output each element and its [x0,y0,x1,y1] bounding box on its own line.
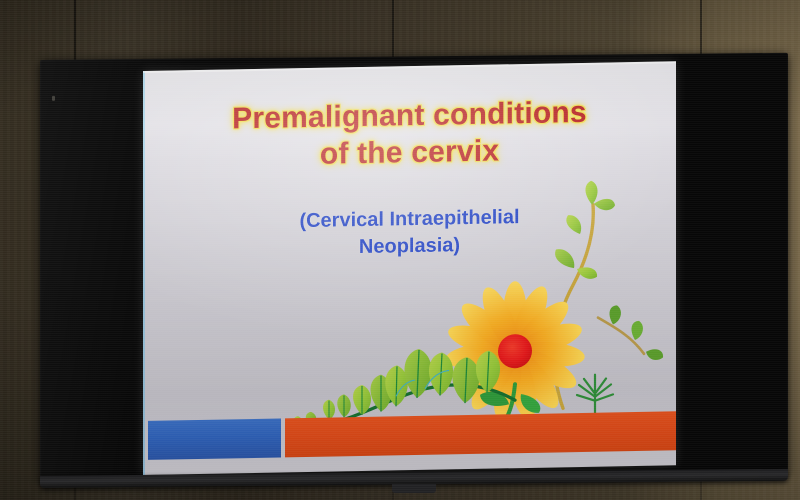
slide-title: Premalignant conditions of the cervix [143,93,676,176]
vine-leaf [337,394,351,417]
vine-leaf [385,365,408,406]
right-branch [598,304,663,361]
vine-leaf [404,349,431,398]
tv-indicator-led [52,96,55,101]
vine-leaf [429,352,453,395]
tv-stand-nub [392,484,436,493]
slide-footer-blue-bar [148,418,281,459]
slide-footer-orange-bar [285,411,676,457]
tv-bezel: Premalignant conditions of the cervix (C… [40,53,788,480]
sunflower-center [498,334,532,369]
slide-subtitle: (Cervical Intraepithelial Neoplasia) [143,201,676,264]
sunflower [444,280,586,424]
television: Premalignant conditions of the cervix (C… [40,60,788,480]
vine-leaf [452,357,479,403]
sunflower-petals [444,280,586,424]
vine-leaf [476,350,500,392]
photo-scene: Premalignant conditions of the cervix (C… [0,0,800,500]
vine-leaf [371,374,392,411]
presentation-slide: Premalignant conditions of the cervix (C… [143,61,676,475]
vine-leaf [353,385,371,415]
